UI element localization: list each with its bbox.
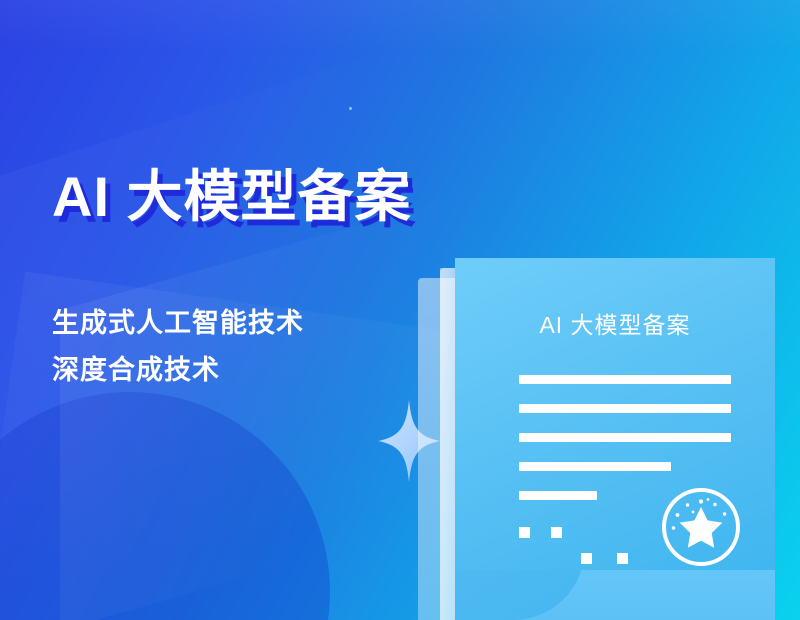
document-square-mark: [617, 553, 628, 564]
document-card-main: AI 大模型备案: [455, 258, 775, 570]
document-text-line: [519, 375, 731, 384]
document-text-line: [519, 462, 671, 471]
star-seal-icon: [660, 486, 742, 568]
document-card-title: AI 大模型备案: [455, 306, 775, 340]
page-title: AI 大模型备案: [52, 168, 412, 227]
document-text-line: [519, 404, 731, 413]
headline-block: AI 大模型备案: [52, 168, 412, 227]
subtitle-block: 生成式人工智能技术 深度合成技术: [52, 300, 304, 395]
ai-model-filing-banner: AI 大模型备案 生成式人工智能技术 深度合成技术 AI 大模型备案: [0, 0, 800, 620]
document-square-mark: [551, 527, 562, 538]
document-text-line: [519, 433, 731, 442]
subtitle-line-2: 深度合成技术: [52, 347, 304, 394]
document-text-line: [519, 491, 597, 500]
document-square-mark: [519, 527, 530, 538]
document-card-edge-strip: [440, 268, 456, 620]
document-square-mark: [581, 553, 592, 564]
subtitle-line-1: 生成式人工智能技术: [52, 300, 304, 347]
